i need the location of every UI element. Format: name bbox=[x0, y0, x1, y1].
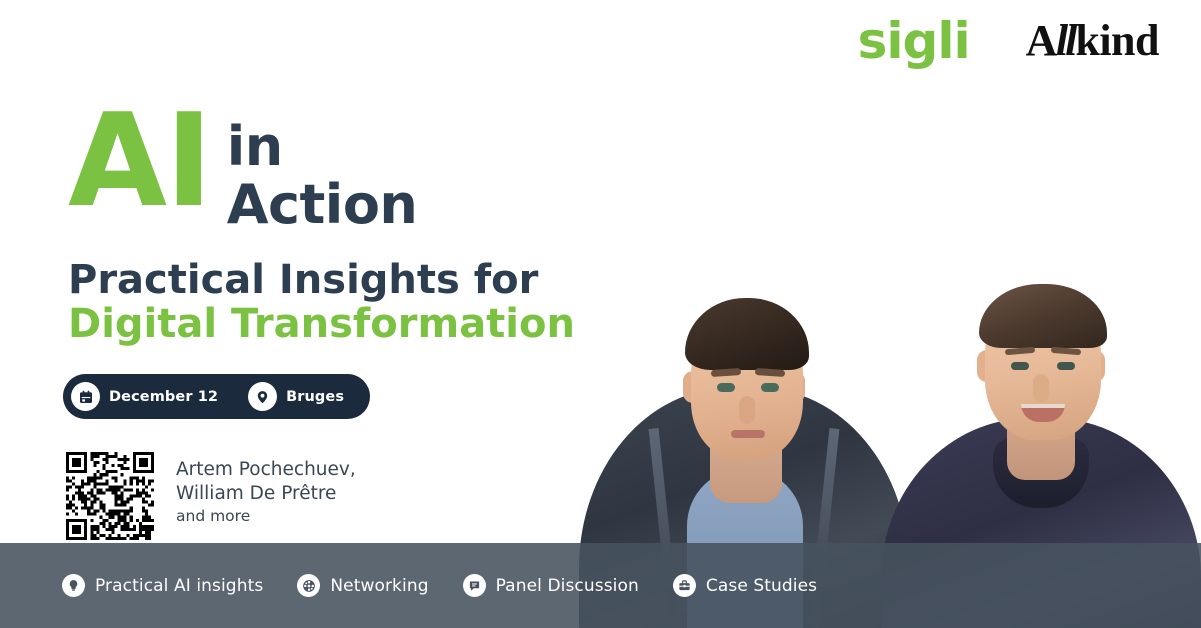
event-location: Bruges bbox=[248, 382, 344, 411]
speaker-name-2: William De Prêtre bbox=[176, 482, 356, 506]
event-date: December 12 bbox=[71, 382, 218, 411]
footer-label-networking: Networking bbox=[330, 576, 428, 596]
logo-row: sigli Allkind bbox=[858, 16, 1159, 66]
eye-left bbox=[717, 383, 735, 392]
allkind-logo[interactable]: Allkind bbox=[1026, 19, 1159, 63]
speaker-name-1: Artem Pochechuev, bbox=[176, 458, 356, 482]
headline-top-row: AI in Action bbox=[68, 112, 575, 234]
footer-label-case-studies: Case Studies bbox=[706, 576, 817, 596]
headline-ai: AI bbox=[68, 112, 211, 212]
allkind-logo-ll: ll bbox=[1056, 19, 1074, 63]
footer-item-case-studies[interactable]: Case Studies bbox=[673, 574, 817, 597]
speech-bubble-icon bbox=[463, 574, 486, 597]
headline-action: Action bbox=[227, 176, 418, 234]
footer-label-panel-discussion: Panel Discussion bbox=[496, 576, 639, 596]
speakers-and-more: and more bbox=[176, 507, 356, 525]
eye-right bbox=[761, 383, 779, 392]
headline-in-action: in Action bbox=[227, 112, 418, 234]
subtitle-line-2: Digital Transformation bbox=[68, 302, 575, 347]
eye-right bbox=[1057, 362, 1075, 370]
allkind-logo-a: A bbox=[1026, 19, 1057, 63]
speakers-block: Artem Pochechuev, William De Prêtre and … bbox=[66, 452, 356, 540]
subtitle-line-1: Practical Insights for bbox=[68, 258, 575, 303]
lightbulb-icon bbox=[62, 574, 85, 597]
headline-block: AI in Action Practical Insights for Digi… bbox=[68, 112, 575, 347]
allkind-logo-kind: kind bbox=[1075, 19, 1159, 63]
footer-item-panel-discussion[interactable]: Panel Discussion bbox=[463, 574, 639, 597]
eye-left bbox=[1011, 362, 1029, 370]
speaker-names: Artem Pochechuev, William De Prêtre and … bbox=[176, 452, 356, 525]
footer-item-networking[interactable]: Networking bbox=[297, 574, 428, 597]
mouth-shape bbox=[731, 430, 765, 438]
footer-label-practical-ai-insights: Practical AI insights bbox=[95, 576, 263, 596]
network-icon bbox=[297, 574, 320, 597]
qr-code[interactable] bbox=[66, 452, 154, 540]
event-banner: sigli Allkind AI in Action Practical Ins… bbox=[0, 0, 1201, 628]
hair-shape bbox=[979, 284, 1107, 348]
sigli-logo[interactable]: sigli bbox=[858, 16, 970, 66]
speaker-photo-group bbox=[561, 0, 1201, 628]
footer-item-practical-ai-insights[interactable]: Practical AI insights bbox=[62, 574, 263, 597]
event-location-label: Bruges bbox=[286, 389, 344, 405]
headline-in: in bbox=[227, 115, 283, 178]
event-date-label: December 12 bbox=[109, 389, 218, 405]
event-meta-pill: December 12 Bruges bbox=[63, 374, 370, 419]
location-pin-icon bbox=[248, 382, 277, 411]
nose-shape bbox=[739, 396, 755, 424]
calendar-icon bbox=[71, 382, 100, 411]
briefcase-icon bbox=[673, 574, 696, 597]
hair-shape bbox=[685, 298, 809, 370]
nose-shape bbox=[1033, 374, 1049, 402]
footer-topics-bar: Practical AI insights Networking bbox=[0, 543, 1201, 628]
